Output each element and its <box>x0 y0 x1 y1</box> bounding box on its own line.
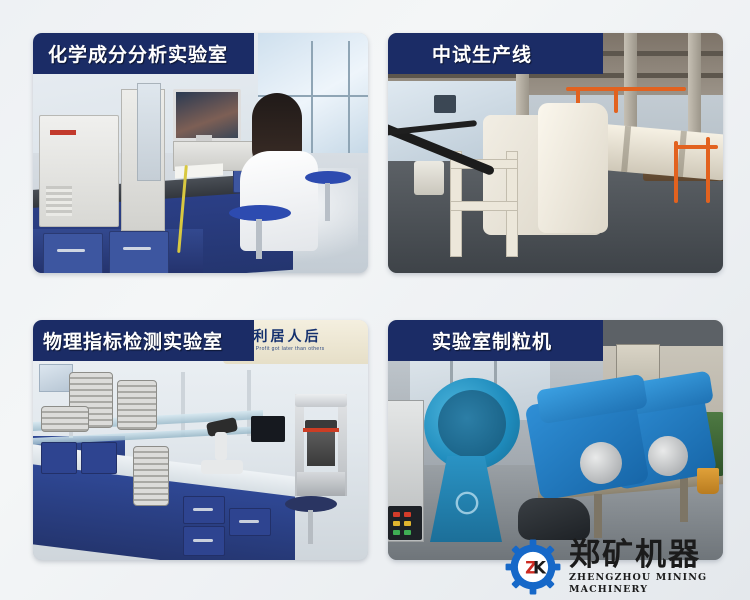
card-chemical-analysis-lab[interactable]: 化学成分分析实验室 <box>33 33 368 273</box>
card-caption-label: 实验室制粒机 <box>388 327 552 354</box>
frame-crossbar <box>450 201 518 211</box>
card-lab-granulator[interactable]: 实验室制粒机 <box>388 320 723 560</box>
logo-text-block: 郑矿机器 ZHENGZHOU MINING MACHINERY <box>569 538 750 596</box>
bench-leg <box>680 478 688 522</box>
yellow-bucket <box>697 468 719 494</box>
safety-rail <box>674 145 718 149</box>
photo-card-grid: 化学成分分析实验室 <box>33 33 723 565</box>
kiln-head <box>538 103 608 233</box>
glass-column <box>137 83 161 181</box>
microscope-arm <box>215 432 227 460</box>
sieve-shaker-stack <box>133 446 169 506</box>
cabinet-drawer <box>109 231 169 273</box>
company-logo: Z K 郑矿机器 ZHENGZHOU MINING MACHINERY <box>505 534 750 600</box>
drawer-handle <box>193 508 213 511</box>
drawer-handle <box>193 539 213 542</box>
safety-rail-post <box>674 141 678 203</box>
status-led <box>404 512 411 517</box>
company-name-cn: 郑矿机器 <box>569 538 750 572</box>
bench-leg <box>594 494 602 538</box>
card-caption-label: 中试生产线 <box>388 40 532 67</box>
steel-beam <box>603 320 723 346</box>
control-box <box>434 95 456 113</box>
cabinet-drawer <box>81 442 117 474</box>
analyzer-unit <box>39 115 119 227</box>
card-caption-physical-testing-lab: 物理指标检测实验室 <box>33 320 254 361</box>
card-physical-testing-lab[interactable]: · 利居人后 orking Profit got later than othe… <box>33 320 368 560</box>
wall-poster <box>39 364 73 392</box>
sieve-shaker-stack <box>41 406 89 432</box>
sieve-shaker-stack <box>117 380 157 430</box>
cabinet-drawer <box>41 442 77 474</box>
card-caption-lab-granulator: 实验室制粒机 <box>388 320 603 361</box>
microscope-base <box>201 460 243 474</box>
lab-technician <box>238 93 320 223</box>
status-led <box>404 530 411 535</box>
safety-rail <box>566 87 686 91</box>
logo-letter-k: K <box>533 558 547 578</box>
promo-page: 化学成分分析实验室 <box>0 0 750 600</box>
press-base <box>297 472 345 496</box>
safety-rail-post <box>614 87 618 113</box>
status-led <box>393 530 400 535</box>
drum-ring <box>621 126 631 172</box>
control-panel <box>388 506 422 540</box>
monitor-screen <box>176 92 238 138</box>
company-name-en: ZHENGZHOU MINING MACHINERY <box>569 572 750 596</box>
computer-monitor <box>173 89 241 141</box>
card-pilot-production-line[interactable]: 中试生产线 <box>388 33 723 273</box>
press-specimen <box>307 432 335 466</box>
computer-monitor <box>251 416 285 442</box>
technician-lab-coat <box>240 151 318 251</box>
drawer-handle <box>239 520 259 523</box>
status-led <box>404 521 411 526</box>
machine-brand-gear-icon <box>450 486 484 520</box>
microscope <box>201 420 243 478</box>
feed-drum <box>414 161 444 195</box>
drum-ring <box>677 131 687 177</box>
vent-grille <box>46 186 72 216</box>
status-led <box>393 521 400 526</box>
card-caption-label: 物理指标检测实验室 <box>33 327 223 354</box>
card-caption-label: 化学成分分析实验室 <box>33 40 228 67</box>
cabinet-drawer <box>43 233 103 273</box>
drawer-handle <box>57 249 85 252</box>
drawer-handle <box>123 247 151 250</box>
lab-stool-post <box>256 219 262 259</box>
lab-stool-post <box>308 510 313 544</box>
indicator-strip <box>50 130 76 135</box>
gear-icon: Z K <box>505 539 561 595</box>
compression-testing-machine <box>295 394 347 496</box>
shelf-post <box>181 372 185 436</box>
status-led <box>393 512 400 517</box>
card-caption-pilot-production-line: 中试生产线 <box>388 33 603 74</box>
card-caption-chemical-analysis-lab: 化学成分分析实验室 <box>33 33 254 74</box>
lab-stool-post <box>325 183 330 221</box>
press-crosshead <box>295 394 347 407</box>
